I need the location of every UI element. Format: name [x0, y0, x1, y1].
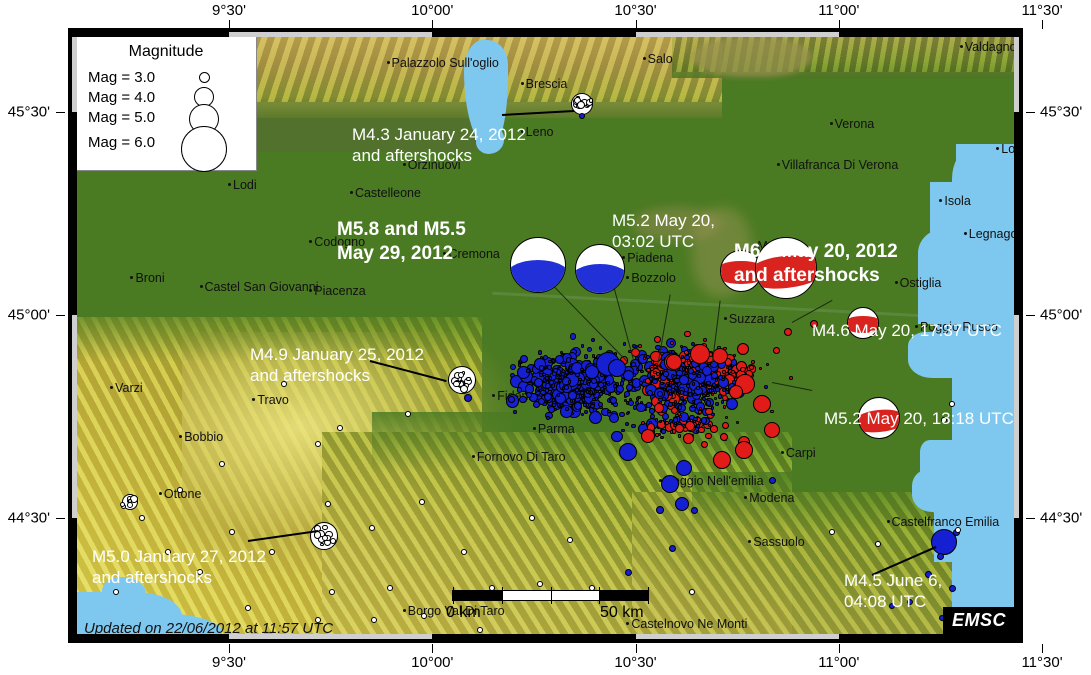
lat-tick-right-2: [1026, 518, 1035, 519]
city-label-valdagno: Valdagno: [961, 41, 1017, 54]
lat-tick-right-1: [1026, 315, 1035, 316]
lon-tick-bottom-2: [636, 644, 637, 653]
earthquake-marker-large: [713, 451, 731, 469]
earthquake-marker: [655, 418, 658, 421]
city-label-piadena: Piadena: [623, 252, 673, 265]
earthquake-marker-blue: [731, 359, 738, 366]
city-label-verona: Verona: [831, 118, 875, 131]
earthquake-marker: [665, 421, 668, 424]
earthquake-marker-blue: [538, 350, 543, 355]
earthquake-marker: [672, 429, 677, 434]
earthquake-marker-blue: [674, 400, 677, 403]
legend-magnitude-circle-0: [199, 72, 210, 83]
earthquake-marker-white: [955, 527, 961, 533]
map-canvas[interactable]: PaeseTrevisoValdagnoVicenzaMestreVenezia…: [68, 28, 1023, 643]
city-label-leno: Leno: [522, 126, 554, 139]
earthquake-marker-blue: [669, 545, 676, 552]
city-label-legnago: Legnago: [965, 228, 1018, 241]
scale-bar-left-label: 0 km: [446, 604, 481, 622]
earthquake-marker-blue: [639, 381, 642, 384]
city-name: Castelfranco Emilia: [892, 515, 1000, 529]
earthquake-marker-blue: [616, 391, 620, 395]
annotation-jan25: M4.9 January 25, 2012 and aftershocks: [250, 344, 424, 387]
earthquake-marker-blue: [599, 392, 602, 395]
earthquake-marker-blue: [526, 369, 530, 373]
city-label-carpi: Carpi: [782, 447, 816, 460]
scale-bar-tick-2: [551, 587, 552, 604]
city-name: Piadena: [627, 251, 673, 265]
earthquake-marker-blue: [663, 371, 668, 376]
earthquake-marker-blue: [728, 366, 732, 370]
earthquake-marker-blue: [591, 378, 597, 384]
earthquake-marker-red: [740, 367, 746, 373]
earthquake-marker-blue: [598, 402, 603, 407]
earthquake-marker-blue: [534, 378, 543, 387]
earthquake-marker-blue: [581, 344, 585, 348]
city-label-isola: Isola: [940, 195, 970, 208]
map-figure: 9°30'10°00'10°30'11°00'11°30'12°00'12°30…: [0, 0, 1091, 675]
earthquake-marker-blue: [547, 365, 552, 370]
earthquake-marker: [673, 424, 677, 428]
magnitude-legend: Magnitude Mag = 3.0Mag = 4.0Mag = 5.0Mag…: [75, 35, 257, 171]
earthquake-marker-blue: [636, 397, 639, 400]
earthquake-marker-large: [619, 443, 637, 461]
city-name: Castelleone: [355, 186, 421, 200]
city-name: Bozzolo: [631, 271, 675, 285]
lon-tick-bottom-1: [432, 644, 433, 653]
city-label-lonigo: Lonigo: [997, 143, 1019, 156]
earthquake-marker-blue: [697, 374, 701, 378]
earthquake-marker-blue: [636, 403, 645, 412]
earthquake-marker-blue: [564, 385, 569, 390]
earthquake-marker-white: [577, 101, 585, 109]
lon-tick-top-4: [1042, 20, 1043, 29]
lon-tick-label-top-4: 11°30': [1021, 2, 1062, 19]
earthquake-marker-blue: [610, 397, 617, 404]
earthquake-marker-blue: [702, 366, 712, 376]
earthquake-marker-blue: [764, 385, 768, 389]
earthquake-marker-large: [729, 385, 743, 399]
lat-tick-label-right-1: 45°00': [1040, 307, 1082, 324]
scale-bar-tick-0: [453, 587, 454, 604]
earthquake-marker: [696, 430, 699, 433]
earthquake-marker-blue: [949, 585, 956, 592]
earthquake-marker-blue: [715, 402, 718, 405]
city-label-villafranca-di-verona: Villafranca Di Verona: [778, 159, 899, 172]
city-name: Brescia: [526, 77, 568, 91]
earthquake-marker-blue: [688, 392, 693, 397]
earthquake-marker-large: [676, 460, 692, 476]
legend-row-label-3: Mag = 6.0: [88, 134, 155, 151]
earthquake-marker-blue: [647, 390, 653, 396]
city-label-broni: Broni: [131, 272, 164, 285]
focal-mechanism-m58-may29: [510, 237, 566, 293]
earthquake-marker-blue: [609, 413, 619, 423]
earthquake-marker-blue: [712, 383, 716, 387]
earthquake-marker-blue: [568, 380, 571, 383]
earthquake-marker-blue: [676, 370, 682, 376]
city-name: Valdagno: [965, 40, 1017, 54]
earthquake-marker-large: [608, 359, 626, 377]
city-label-castel-san-giovanni: Castel San Giovanni: [201, 281, 319, 294]
lon-tick-label-bottom-0: 9°30': [212, 654, 246, 671]
city-name: Lodi: [233, 178, 257, 192]
earthquake-marker-blue: [565, 407, 569, 411]
earthquake-marker-blue: [517, 387, 522, 392]
city-name: Fornovo Di Taro: [477, 450, 566, 464]
earthquake-marker-white: [466, 377, 470, 381]
earthquake-marker-red: [770, 410, 773, 413]
earthquake-marker-large: [641, 429, 655, 443]
earthquake-marker-blue: [636, 368, 639, 371]
earthquake-marker-blue: [696, 386, 700, 390]
lat-tick-label-right-2: 44°30': [1040, 510, 1082, 527]
city-name: Bobbio: [184, 430, 223, 444]
earthquake-marker-large: [661, 475, 679, 493]
earthquake-marker-blue: [652, 379, 657, 384]
earthquake-marker-red: [735, 441, 753, 459]
earthquake-marker-blue: [666, 382, 669, 385]
earthquake-marker-blue: [548, 406, 555, 413]
focal-mechanism-compression-lobe: [510, 260, 566, 293]
earthquake-marker-blue: [660, 382, 663, 385]
focal-mechanism-compression-lobe: [575, 264, 625, 294]
earthquake-marker: [673, 417, 679, 423]
city-label-piacenza: Piacenza: [310, 285, 365, 298]
earthquake-marker: [649, 421, 652, 424]
earthquake-marker-red: [654, 336, 661, 343]
city-label-castelfranco-emilia: Castelfranco Emilia: [888, 516, 1000, 529]
city-name: Palazzolo Sull'oglio: [392, 56, 499, 70]
legend-row-label-2: Mag = 5.0: [88, 109, 155, 126]
earthquake-marker-blue: [599, 346, 602, 349]
earthquake-marker-blue: [668, 402, 673, 407]
city-name: Castelnovo Ne Monti: [631, 617, 747, 631]
city-label-fornovo-di-taro: Fornovo Di Taro: [473, 451, 566, 464]
earthquake-marker-large: [666, 354, 682, 370]
earthquake-marker-red: [773, 347, 780, 354]
city-name: Legnago: [969, 227, 1018, 241]
lon-tick-label-top-1: 10°00': [411, 2, 453, 19]
city-label-castelleone: Castelleone: [351, 187, 421, 200]
annotation-may20-1737: M4.6 May 20, 17:37 UTC: [812, 320, 1002, 341]
city-label-salo: Salo: [644, 53, 673, 66]
city-label-bozzolo: Bozzolo: [627, 272, 675, 285]
earthquake-marker: [698, 410, 702, 414]
lat-tick-label-right-0: 45°30': [1040, 104, 1082, 121]
earthquake-marker-large: [764, 422, 780, 438]
city-name: Broni: [135, 271, 164, 285]
city-name: Ostiglia: [900, 276, 942, 290]
lon-tick-label-bottom-2: 10°30': [614, 654, 656, 671]
earthquake-marker-red: [737, 343, 749, 355]
earthquake-marker-white: [320, 543, 324, 547]
earthquake-marker-blue: [611, 431, 622, 442]
city-name: Modena: [749, 491, 794, 505]
city-name: Villafranca Di Verona: [782, 158, 899, 172]
lat-tick-left-1: [56, 315, 65, 316]
earthquake-marker: [693, 417, 697, 421]
earthquake-marker-blue: [575, 373, 579, 377]
earthquake-marker-blue: [520, 355, 528, 363]
city-label-parma: Parma: [534, 423, 575, 436]
earthquake-marker-blue: [691, 507, 698, 514]
earthquake-marker-blue: [660, 436, 663, 439]
city-label-modena: Modena: [745, 492, 794, 505]
city-name: Parma: [538, 422, 575, 436]
lon-tick-bottom-3: [839, 644, 840, 653]
earthquake-marker-large: [585, 365, 599, 379]
earthquake-marker-blue: [519, 396, 527, 404]
city-label-ostiglia: Ostiglia: [896, 277, 942, 290]
earthquake-marker: [736, 421, 739, 424]
earthquake-marker-blue: [549, 376, 553, 380]
scale-bar: [452, 590, 649, 601]
lat-tick-left-2: [56, 518, 65, 519]
earthquake-marker-blue: [624, 391, 630, 397]
city-label-bobbio: Bobbio: [180, 431, 223, 444]
earthquake-marker-blue: [513, 410, 517, 414]
earthquake-marker: [705, 408, 713, 416]
city-label-varzi: Varzi: [111, 382, 143, 395]
annotation-may20-0302: M5.2 May 20, 03:02 UTC: [612, 210, 715, 253]
lat-tick-label-left-1: 45°00': [0, 307, 50, 324]
earthquake-marker-red: [789, 376, 793, 380]
legend-row-label-1: Mag = 4.0: [88, 89, 155, 106]
earthquake-marker: [641, 421, 645, 425]
lat-tick-right-0: [1026, 112, 1035, 113]
city-name: Suzzara: [729, 312, 775, 326]
annotation-jun6: M4.5 June 6, 04:08 UTC: [844, 570, 942, 613]
earthquake-marker: [710, 425, 718, 433]
earthquake-marker-blue: [769, 477, 776, 484]
earthquake-marker: [683, 433, 694, 444]
city-label-castelnovo-ne-monti: Castelnovo Ne Monti: [627, 618, 747, 631]
earthquake-marker-blue: [584, 354, 588, 358]
earthquake-marker-blue: [656, 506, 664, 514]
city-name: Varzi: [115, 381, 143, 395]
city-name: Piacenza: [314, 284, 365, 298]
city-name: Castel San Giovanni: [205, 280, 319, 294]
earthquake-marker-blue: [583, 403, 586, 406]
earthquake-marker-blue: [464, 394, 472, 402]
city-label-suzzara: Suzzara: [725, 313, 775, 326]
earthquake-marker-blue: [568, 391, 577, 400]
scale-bar-tick-3: [599, 587, 600, 604]
earthquake-marker: [678, 434, 681, 437]
city-name: Travo: [257, 393, 289, 407]
lat-tick-left-0: [56, 112, 65, 113]
annotation-jan27: M5.0 January 27, 2012 and aftershocks: [92, 546, 266, 589]
city-name: Lonigo: [1001, 142, 1019, 156]
earthquake-marker-blue: [675, 497, 689, 511]
earthquake-marker-blue: [579, 113, 585, 119]
earthquake-marker-blue: [713, 388, 716, 391]
annotation-may20-1318: M5.2 May 20, 13:18 UTC: [824, 408, 1014, 429]
earthquake-marker-blue: [625, 569, 632, 576]
lon-tick-label-bottom-3: 11°00': [818, 654, 859, 671]
earthquake-marker-blue: [621, 429, 624, 432]
earthquake-marker-blue: [684, 355, 689, 360]
annotation-may20-m61: M6.1 May 20, 2012 and aftershocks: [734, 240, 898, 288]
earthquake-marker-blue: [692, 382, 695, 385]
earthquake-marker-large: [753, 395, 771, 413]
lon-tick-label-top-2: 10°30': [614, 2, 656, 19]
earthquake-marker-blue: [549, 380, 554, 385]
earthquake-marker-blue: [646, 355, 649, 358]
earthquake-marker-white: [322, 535, 328, 541]
city-label-palazzolo-sull-oglio: Palazzolo Sull'oglio: [388, 57, 499, 70]
earthquake-marker-blue: [607, 383, 610, 386]
city-label-sassuolo: Sassuolo: [749, 536, 804, 549]
earthquake-marker-blue: [557, 403, 561, 407]
earthquake-marker-blue: [580, 380, 583, 383]
city-label-travo: Travo: [253, 394, 289, 407]
earthquake-marker: [698, 427, 704, 433]
city-label-lodi: Lodi: [229, 179, 257, 192]
earthquake-marker-blue: [592, 398, 596, 402]
updated-timestamp: Updated on 22/06/2012 at 11:57 UTC: [84, 620, 333, 637]
lon-tick-bottom-4: [1042, 644, 1043, 653]
earthquake-marker-blue: [580, 368, 583, 371]
lon-tick-bottom-0: [229, 644, 230, 653]
lon-tick-label-bottom-4: 11°30': [1021, 654, 1062, 671]
lat-tick-label-left-2: 44°30': [0, 510, 50, 527]
earthquake-marker-white: [453, 381, 459, 387]
earthquake-marker-red: [638, 344, 642, 348]
emsc-logo: EMSC: [943, 607, 1015, 635]
earthquake-marker-blue: [623, 342, 626, 345]
earthquake-marker: [678, 405, 683, 410]
earthquake-marker-blue: [631, 424, 635, 428]
annotation-may29: M5.8 and M5.5 May 29, 2012: [337, 218, 466, 266]
lat-tick-label-left-0: 45°30': [0, 104, 50, 121]
earthquake-marker-red: [687, 361, 690, 364]
city-name: Verona: [835, 117, 875, 131]
city-name: Salo: [648, 52, 673, 66]
earthquake-marker: [701, 417, 707, 423]
earthquake-marker-red: [766, 363, 769, 366]
city-name: Isola: [944, 194, 970, 208]
scale-bar-segment-dark-0: [502, 591, 551, 600]
city-name: Sassuolo: [753, 535, 804, 549]
earthquake-marker-blue: [718, 375, 723, 380]
earthquake-marker-red: [684, 331, 691, 338]
city-label-brescia: Brescia: [522, 78, 568, 91]
earthquake-marker-large: [690, 344, 710, 364]
earthquake-marker-white: [460, 385, 468, 393]
lon-tick-label-top-3: 11°00': [818, 2, 859, 19]
earthquake-marker-blue: [631, 362, 636, 367]
earthquake-marker-blue: [937, 553, 944, 560]
earthquake-marker-red: [711, 393, 714, 396]
earthquake-marker-blue: [570, 333, 577, 340]
scale-bar-tick-1: [502, 587, 503, 604]
earthquake-marker-blue: [702, 397, 706, 401]
lon-tick-label-top-0: 9°30': [212, 2, 246, 19]
city-name: Leno: [526, 125, 554, 139]
scale-bar-right-label: 50 km: [600, 604, 644, 622]
legend-magnitude-circle-3: [181, 126, 227, 172]
annotation-jan24: M4.3 January 24, 2012 and aftershocks: [352, 124, 526, 167]
earthquake-marker-blue: [574, 402, 582, 410]
earthquake-marker-blue: [548, 387, 552, 391]
earthquake-marker-blue: [683, 400, 686, 403]
city-name: Carpi: [786, 446, 816, 460]
scale-bar-tick-4: [648, 587, 649, 604]
earthquake-marker-white: [322, 525, 328, 531]
earthquake-marker-blue: [526, 392, 532, 398]
scale-bar-segment-1: [551, 591, 600, 600]
scale-bar-segment-dark-1: [599, 591, 648, 600]
earthquake-marker-red: [784, 328, 792, 336]
earthquake-marker-blue: [706, 400, 711, 405]
earthquake-marker-blue: [587, 347, 592, 352]
earthquake-marker-red: [655, 363, 658, 366]
legend-row-label-0: Mag = 3.0: [88, 69, 155, 86]
lon-tick-label-bottom-1: 10°00': [411, 654, 453, 671]
earthquake-marker-red: [749, 365, 754, 370]
legend-title: Magnitude: [76, 43, 256, 61]
earthquake-marker: [661, 429, 665, 433]
scale-bar-segment-0: [453, 591, 502, 600]
earthquake-marker-blue: [553, 368, 558, 373]
